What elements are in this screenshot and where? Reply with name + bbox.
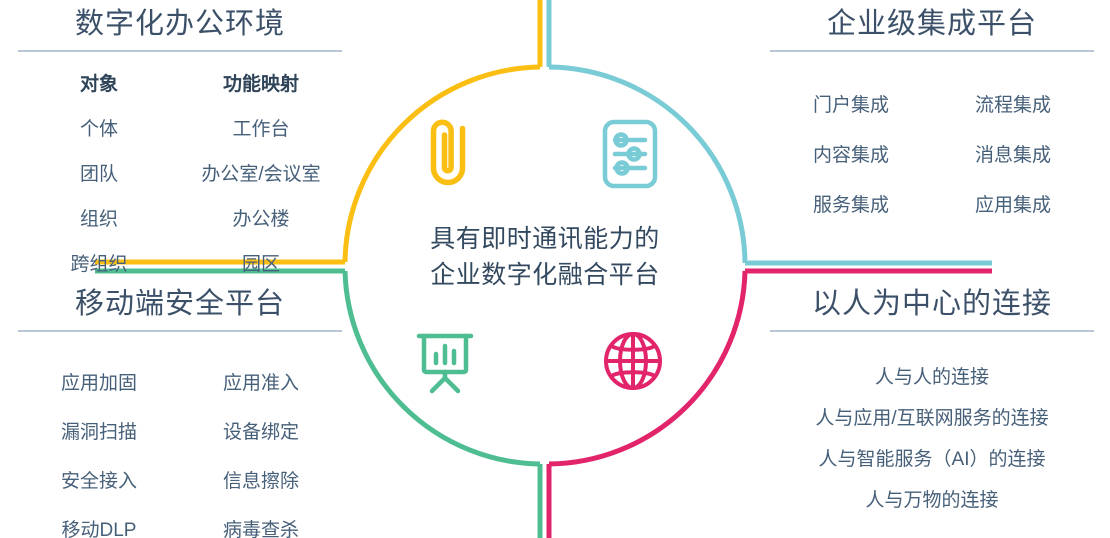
term-grid-top-left: 对象 功能映射 个体 工作台 团队 办公室/会议室 组织 办公楼 跨组织 园区 [18, 69, 342, 276]
center-headline: 具有即时通讯能力的 企业数字化融合平台 [385, 222, 705, 293]
term-cell: 漏洞扫描 [18, 417, 180, 444]
term-cell: 内容集成 [770, 140, 932, 167]
panel-mobile-security-platform: 移动端安全平台 应用加固 应用准入 漏洞扫描 设备绑定 安全接入 信息擦除 移动… [18, 288, 342, 538]
term-grid-bottom-left: 应用加固 应用准入 漏洞扫描 设备绑定 安全接入 信息擦除 移动DLP 病毒查杀 [18, 368, 342, 538]
term-cell: 办公楼 [180, 204, 342, 231]
term-cell: 消息集成 [932, 140, 1094, 167]
term-cell: 办公室/会议室 [180, 159, 342, 186]
panel-title-top-right: 企业级集成平台 [770, 8, 1094, 41]
term-cell: 应用集成 [932, 190, 1094, 217]
infographic-canvas: 具有即时通讯能力的 企业数字化融合平台 数字化办公环境 对象 功能映射 个体 工… [0, 0, 1110, 538]
panel-rule-top-right [770, 50, 1094, 52]
term-cell: 团队 [18, 159, 180, 186]
term-cell: 应用加固 [18, 368, 180, 395]
term-cell: 个体 [18, 114, 180, 141]
term-cell: 跨组织 [18, 249, 180, 276]
panel-title-bottom-right: 以人为中心的连接 [770, 288, 1094, 321]
panel-rule-bottom-left [18, 330, 342, 332]
list-item: 人与人的连接 [770, 368, 1094, 387]
panel-rule-top-left [18, 50, 342, 52]
panel-rule-bottom-right [770, 330, 1094, 332]
list-item: 人与万物的连接 [770, 491, 1094, 510]
column-header-object: 对象 [18, 69, 180, 96]
term-cell: 应用准入 [180, 368, 342, 395]
term-cell: 信息擦除 [180, 466, 342, 493]
panel-enterprise-integration-platform: 企业级集成平台 门户集成 流程集成 内容集成 消息集成 服务集成 应用集成 [770, 8, 1094, 217]
panel-digital-office-environment: 数字化办公环境 对象 功能映射 个体 工作台 团队 办公室/会议室 组织 办公楼… [18, 8, 342, 276]
term-grid-top-right: 门户集成 流程集成 内容集成 消息集成 服务集成 应用集成 [770, 90, 1094, 217]
term-list-bottom-right: 人与人的连接 人与应用/互联网服务的连接 人与智能服务（AI）的连接 人与万物的… [770, 368, 1094, 510]
list-item: 人与智能服务（AI）的连接 [770, 450, 1094, 469]
term-cell: 移动DLP [18, 515, 180, 538]
column-header-function-mapping: 功能映射 [180, 69, 342, 96]
list-item: 人与应用/互联网服务的连接 [770, 409, 1094, 428]
sliders-document-icon [600, 118, 660, 195]
term-cell: 病毒查杀 [180, 515, 342, 538]
term-cell: 组织 [18, 204, 180, 231]
globe-icon [602, 328, 664, 399]
term-cell: 门户集成 [770, 90, 932, 117]
term-cell: 安全接入 [18, 466, 180, 493]
panel-people-centric-connection: 以人为中心的连接 人与人的连接 人与应用/互联网服务的连接 人与智能服务（AI）… [770, 288, 1094, 532]
term-cell: 流程集成 [932, 90, 1094, 117]
paperclip-icon [418, 118, 478, 201]
panel-title-bottom-left: 移动端安全平台 [18, 288, 342, 321]
term-cell: 设备绑定 [180, 417, 342, 444]
term-cell: 园区 [180, 249, 342, 276]
term-cell: 工作台 [180, 114, 342, 141]
term-cell: 服务集成 [770, 190, 932, 217]
center-headline-line2: 企业数字化融合平台 [385, 258, 705, 294]
panel-title-top-left: 数字化办公环境 [18, 8, 342, 41]
center-headline-line1: 具有即时通讯能力的 [385, 222, 705, 258]
presentation-chart-icon [414, 330, 476, 401]
